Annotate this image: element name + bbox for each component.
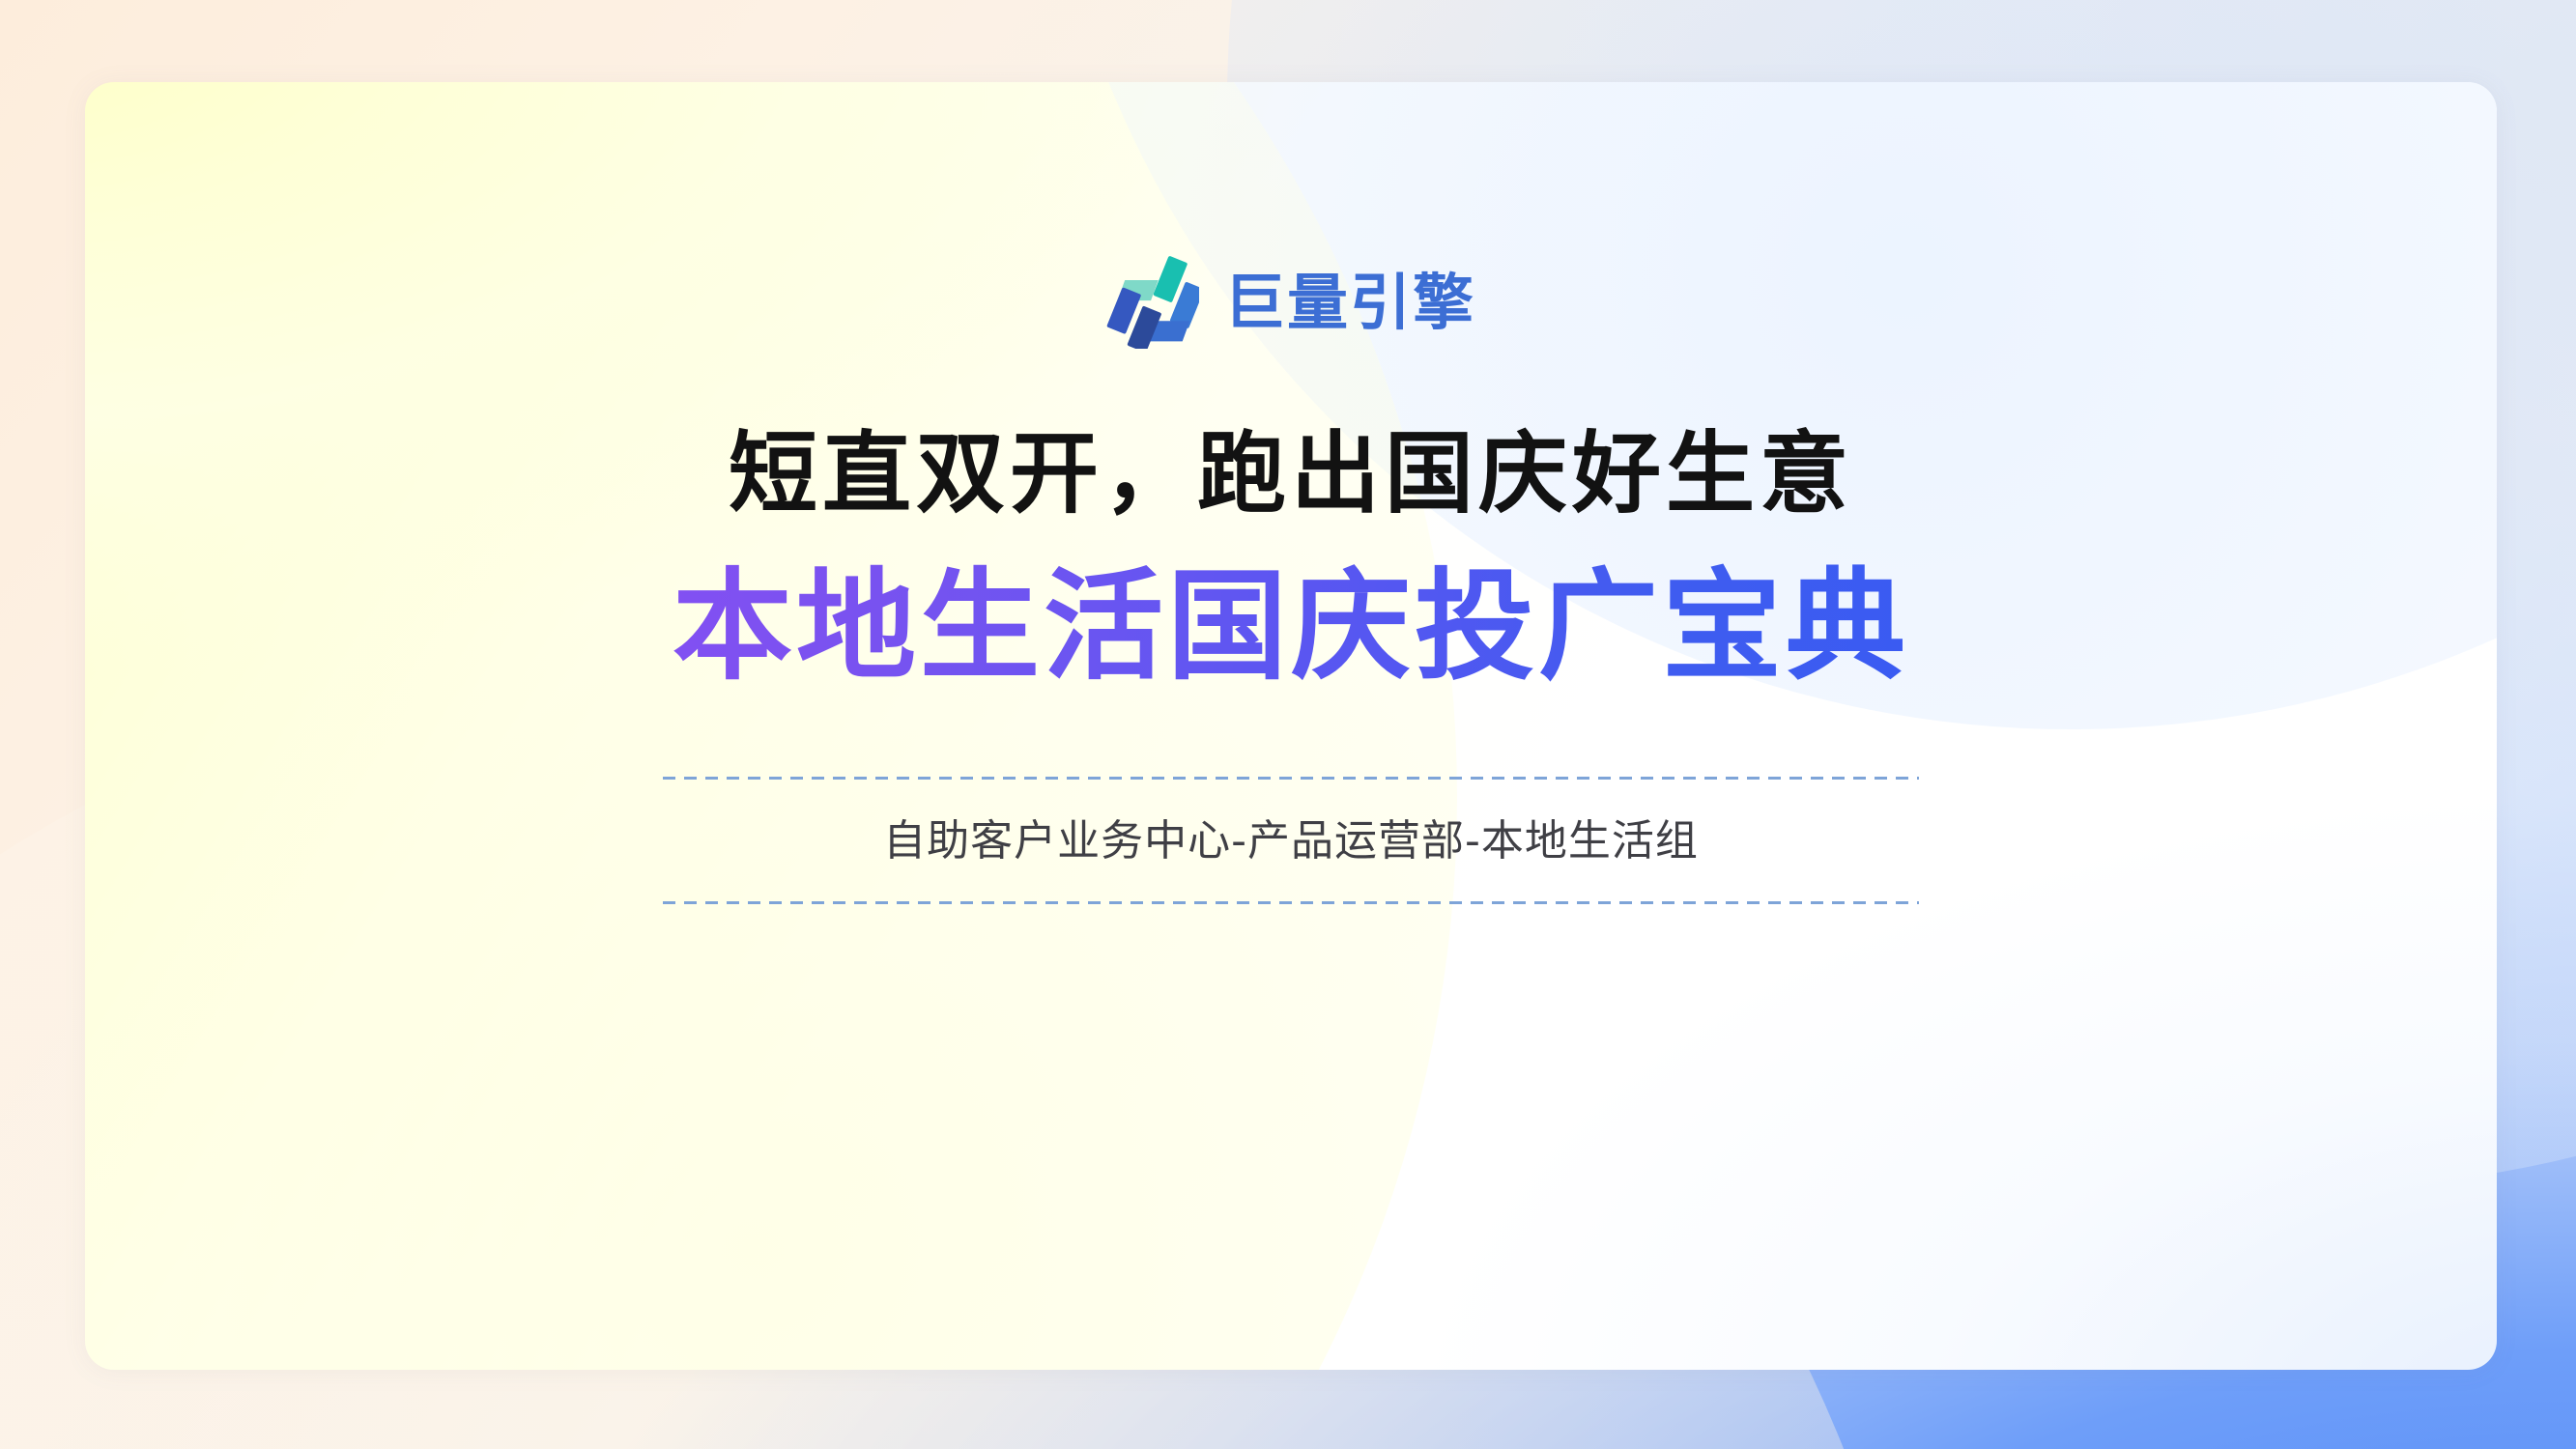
brand-logo-lockup: 巨量引擎 (1106, 256, 1475, 349)
divider-bottom (663, 901, 1919, 904)
byline-block: 自助客户业务中心-产品运营部-本地生活组 (663, 777, 1919, 904)
slide-headline: 短直双开，跑出国庆好生意 (729, 424, 1853, 524)
ocean-engine-pinwheel-icon (1106, 256, 1199, 349)
byline-text: 自助客户业务中心-产品运营部-本地生活组 (883, 780, 1699, 901)
slide-subheadline: 本地生活国庆投广宝典 (673, 560, 1909, 695)
slide-card: 巨量引擎 短直双开，跑出国庆好生意 本地生活国庆投广宝典 自助客户业务中心-产品… (85, 82, 2497, 1370)
slide-content: 巨量引擎 短直双开，跑出国庆好生意 本地生活国庆投广宝典 自助客户业务中心-产品… (85, 82, 2497, 1370)
brand-wordmark: 巨量引擎 (1224, 272, 1475, 333)
